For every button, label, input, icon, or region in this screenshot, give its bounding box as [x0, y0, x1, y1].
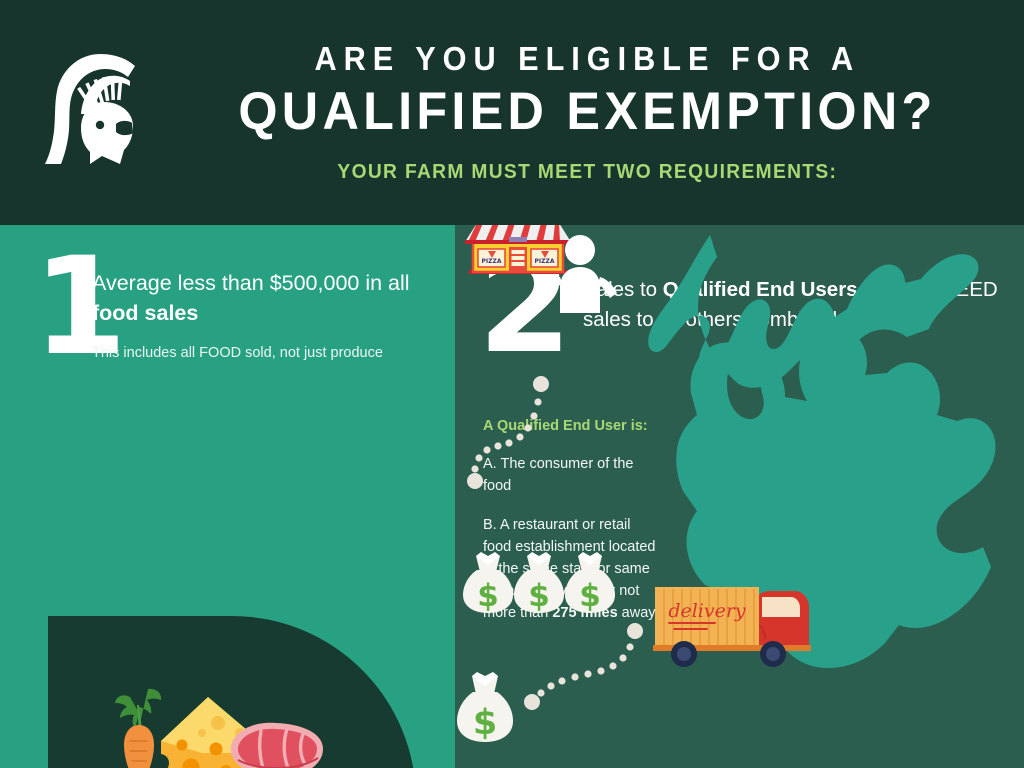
requirement-two-panel: 2 Sales to Qualified End Users must EXCE…: [455, 225, 1024, 768]
infographic-canvas: ARE YOU ELIGIBLE FOR A QUALIFIED EXEMPTI…: [0, 0, 1024, 768]
svg-text:$: $: [528, 578, 550, 614]
carrot-icon: [115, 689, 161, 768]
header-subtitle: YOUR FARM MUST MEET TWO REQUIREMENTS:: [337, 161, 837, 184]
svg-text:$: $: [579, 578, 601, 614]
money-bag-icon: $: [457, 672, 513, 743]
svg-text:$: $: [477, 578, 499, 614]
food-illustration-group: [90, 675, 330, 768]
michigan-map-illustration: PIZZA PIZZA: [455, 225, 1024, 768]
dotted-route-path: [467, 376, 549, 489]
svg-text:$: $: [473, 703, 497, 743]
money-bag-icon: $: [514, 552, 564, 614]
pizza-shop-icon: PIZZA PIZZA: [465, 225, 571, 274]
page-title-line-2: QUALIFIED EXEMPTION?: [238, 82, 936, 143]
msu-spartan-helmet-logo: [34, 46, 164, 176]
requirement-one-headline-plain: Average less than $500,000 in all: [92, 271, 410, 295]
steak-icon: [231, 723, 323, 768]
svg-text:delivery: delivery: [668, 600, 746, 622]
svg-text:PIZZA: PIZZA: [535, 258, 555, 265]
money-bag-icon: $: [565, 552, 615, 614]
money-bag-icon: $: [463, 552, 513, 614]
requirement-one-text-group: Average less than $500,000 in all food s…: [92, 269, 442, 363]
header-banner: ARE YOU ELIGIBLE FOR A QUALIFIED EXEMPTI…: [0, 0, 1024, 225]
requirement-one-headline: Average less than $500,000 in all food s…: [92, 269, 442, 328]
svg-text:PIZZA: PIZZA: [482, 258, 502, 265]
delivery-truck-icon: delivery: [653, 587, 811, 667]
page-title-line-1: ARE YOU ELIGIBLE FOR A: [314, 41, 860, 77]
requirement-one-panel: 1 Average less than $500,000 in all food…: [0, 225, 455, 768]
dotted-route-path: [524, 623, 643, 710]
requirement-one-subtext: This includes all FOOD sold, not just pr…: [92, 344, 442, 363]
header-text-group: ARE YOU ELIGIBLE FOR A QUALIFIED EXEMPTI…: [170, 0, 1024, 225]
requirement-one-headline-bold: food sales: [92, 301, 198, 325]
